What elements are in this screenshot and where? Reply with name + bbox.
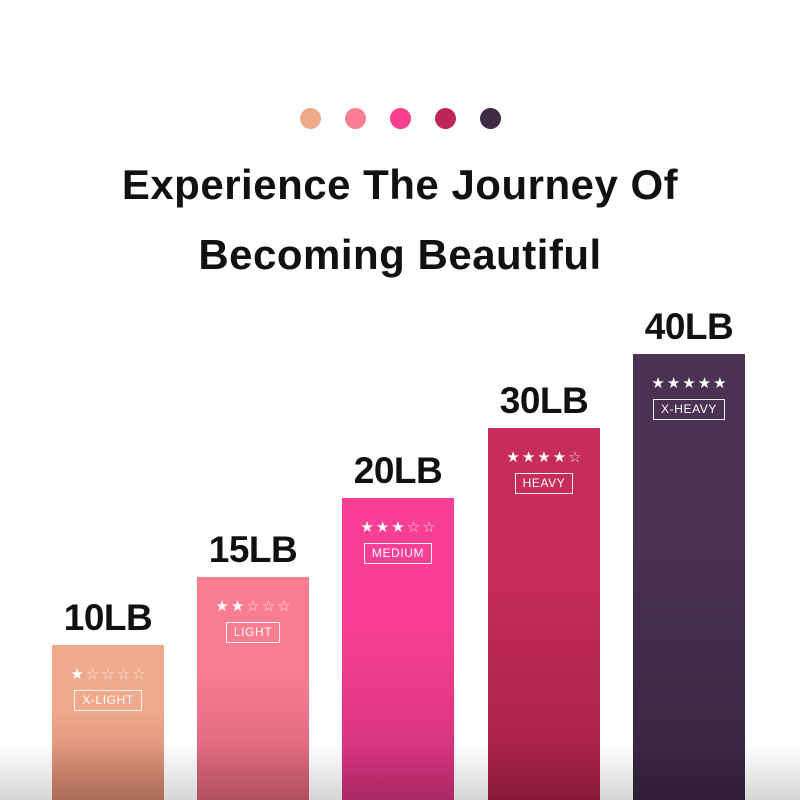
star-empty-icon: ☆ [132, 667, 145, 682]
bar-tag-x-light: X-LIGHT [74, 690, 142, 711]
bar-value-label-x-heavy: 40LB [645, 306, 733, 348]
bar-x-light: ★☆☆☆☆X-LIGHT [52, 645, 164, 800]
bar-tag-light: LIGHT [226, 622, 280, 643]
chart-column-x-light: 10LB★☆☆☆☆X-LIGHT [52, 645, 164, 800]
chart-column-medium: 20LB★★★☆☆MEDIUM [342, 498, 454, 800]
star-filled-icon: ★ [713, 376, 726, 391]
bar-x-heavy: ★★★★★X-HEAVY [633, 354, 745, 800]
star-filled-icon: ★ [667, 376, 680, 391]
rating-stars-medium: ★★★☆☆ [360, 520, 435, 535]
star-filled-icon: ★ [70, 667, 83, 682]
star-empty-icon: ☆ [101, 667, 114, 682]
star-filled-icon: ★ [698, 376, 711, 391]
chart-column-light: 15LB★★☆☆☆LIGHT [197, 577, 309, 800]
star-empty-icon: ☆ [277, 599, 290, 614]
star-filled-icon: ★ [391, 520, 404, 535]
star-filled-icon: ★ [553, 450, 566, 465]
star-empty-icon: ☆ [117, 667, 130, 682]
bar-value-label-medium: 20LB [354, 450, 442, 492]
star-empty-icon: ☆ [568, 450, 581, 465]
bar-tag-x-heavy: X-HEAVY [653, 399, 725, 420]
resistance-band-bar-chart: 10LB★☆☆☆☆X-LIGHT15LB★★☆☆☆LIGHT20LB★★★☆☆M… [0, 0, 800, 800]
bar-light: ★★☆☆☆LIGHT [197, 577, 309, 800]
product-infographic: Experience The Journey Of Becoming Beaut… [0, 0, 800, 800]
bar-medium: ★★★☆☆MEDIUM [342, 498, 454, 800]
bar-value-label-light: 15LB [209, 529, 297, 571]
star-filled-icon: ★ [537, 450, 550, 465]
star-filled-icon: ★ [215, 599, 228, 614]
rating-stars-light: ★★☆☆☆ [215, 599, 290, 614]
chart-column-heavy: 30LB★★★★☆HEAVY [488, 428, 600, 800]
star-empty-icon: ☆ [422, 520, 435, 535]
bar-tag-medium: MEDIUM [364, 543, 432, 564]
rating-stars-heavy: ★★★★☆ [506, 450, 581, 465]
bar-heavy: ★★★★☆HEAVY [488, 428, 600, 800]
star-filled-icon: ★ [231, 599, 244, 614]
rating-stars-x-light: ★☆☆☆☆ [70, 667, 145, 682]
chart-column-x-heavy: 40LB★★★★★X-HEAVY [633, 354, 745, 800]
rating-stars-x-heavy: ★★★★★ [651, 376, 726, 391]
bar-value-label-x-light: 10LB [64, 597, 152, 639]
star-filled-icon: ★ [651, 376, 664, 391]
star-filled-icon: ★ [376, 520, 389, 535]
bar-value-label-heavy: 30LB [500, 380, 588, 422]
star-empty-icon: ☆ [262, 599, 275, 614]
star-empty-icon: ☆ [86, 667, 99, 682]
star-empty-icon: ☆ [407, 520, 420, 535]
star-empty-icon: ☆ [246, 599, 259, 614]
star-filled-icon: ★ [682, 376, 695, 391]
star-filled-icon: ★ [360, 520, 373, 535]
star-filled-icon: ★ [522, 450, 535, 465]
bar-tag-heavy: HEAVY [515, 473, 574, 494]
star-filled-icon: ★ [506, 450, 519, 465]
